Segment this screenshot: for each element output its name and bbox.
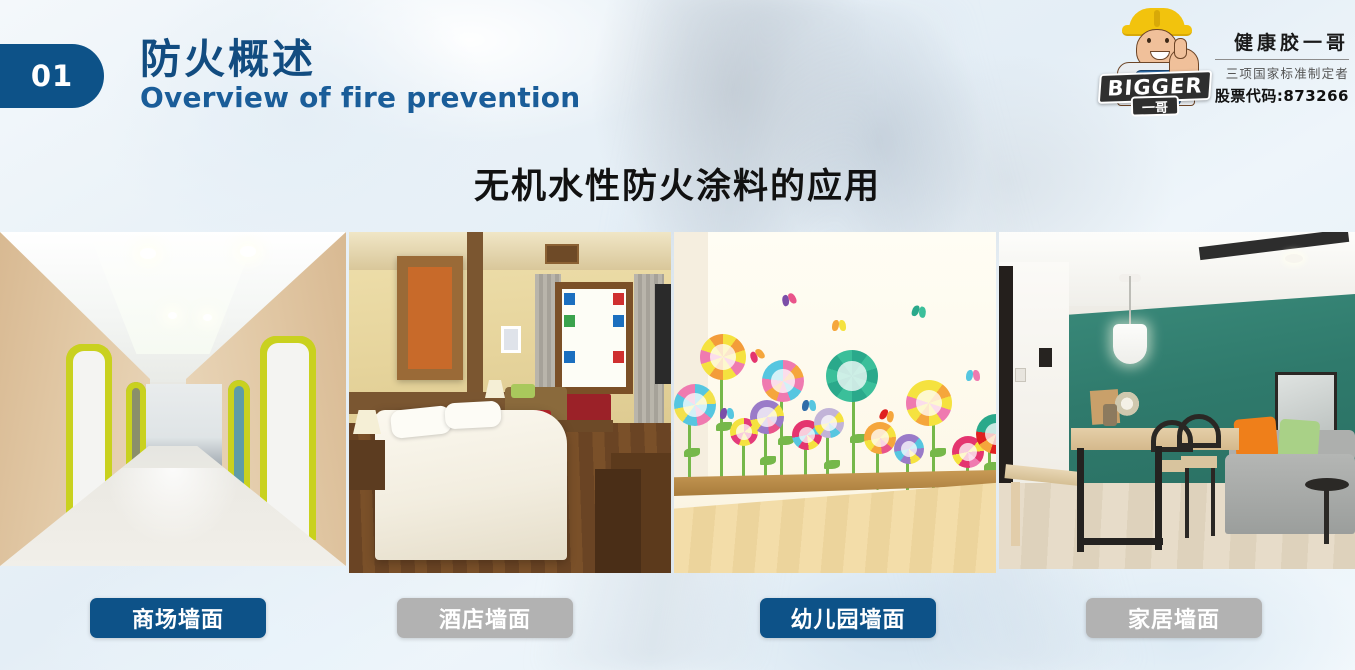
pendant-lamp-cord — [1129, 276, 1131, 326]
dining-chair-leg — [1185, 468, 1189, 538]
gallery-image-hotel-room — [349, 232, 671, 573]
gallery-image-kindergarten-wall — [674, 232, 996, 573]
flower-leaf — [824, 460, 840, 469]
flower-bloom — [906, 380, 952, 426]
section-heading: 防火概述 Overview of fire prevention — [140, 38, 580, 113]
butterfly-icon — [911, 305, 927, 319]
flower-bouquet — [1115, 392, 1145, 418]
brand-name: 健康胶一哥 — [1215, 28, 1349, 55]
section-title-cn: 防火概述 — [140, 38, 580, 81]
kindergarten-wood-floor — [674, 481, 996, 573]
butterfly-icon — [879, 408, 896, 423]
flower-leaf — [930, 448, 946, 457]
flower-leaf — [984, 462, 996, 471]
hotel-ceiling-lamp — [545, 244, 579, 264]
butterfly-icon — [720, 408, 734, 419]
mascot-eye-right — [1165, 38, 1169, 43]
ceiling-light — [140, 248, 156, 259]
flower-bloom-sunflower — [826, 350, 878, 402]
brand-text-block: 健康胶一哥 三项国家标准制定者 股票代码:873266 — [1215, 4, 1349, 106]
dining-chair-seat — [1181, 456, 1217, 468]
page-title: 无机水性防火涂料的应用 — [0, 158, 1355, 209]
mascot-eye-left — [1147, 38, 1151, 43]
flower-bloom — [894, 434, 924, 464]
yige-badge: 一哥 — [1131, 95, 1180, 116]
worker-mascot-icon: BIGGER 一哥 — [1095, 4, 1215, 116]
caption-badge-kindergarten[interactable]: 幼儿园墙面 — [760, 598, 936, 638]
hotel-pillow — [444, 401, 501, 430]
flower-leaf — [684, 448, 700, 457]
hotel-ceiling-beam — [467, 232, 483, 402]
butterfly-icon — [748, 347, 766, 364]
hotel-desk-chair — [595, 469, 641, 573]
hotel-wall-art — [397, 256, 463, 380]
ceiling-light — [168, 312, 177, 319]
butterfly-icon — [802, 400, 816, 411]
flower-bloom — [814, 408, 844, 438]
butterfly-icon — [832, 320, 846, 331]
butterfly-icon — [781, 292, 798, 307]
gray-sofa — [1225, 454, 1355, 534]
brand-divider — [1215, 59, 1349, 60]
section-number-badge: 01 — [0, 44, 104, 108]
brand-logo: BIGGER 一哥 健康胶一哥 三项国家标准制定者 股票代码:873266 — [1095, 4, 1349, 116]
wood-bench-leg — [1011, 482, 1020, 546]
section-title-en: Overview of fire prevention — [140, 83, 580, 114]
flower-bloom — [750, 400, 784, 434]
butterfly-icon — [966, 370, 980, 381]
hotel-stained-glass-window — [555, 282, 633, 394]
side-table-leg — [1324, 488, 1329, 544]
section-number-label: 01 — [31, 59, 73, 93]
table-rail — [1077, 538, 1163, 545]
yige-badge-text: 一哥 — [1142, 96, 1169, 116]
gallery-image-home-interior — [999, 232, 1355, 569]
pendant-lamp — [1113, 324, 1147, 364]
flower-bloom — [700, 334, 746, 380]
flower-bloom — [762, 360, 804, 402]
hotel-green-cushion — [511, 384, 535, 398]
flower-bloom — [674, 384, 716, 426]
table-leg — [1077, 448, 1084, 552]
caption-badge-mall[interactable]: 商场墙面 — [90, 598, 266, 638]
ceiling-spotlight — [1285, 254, 1303, 263]
brand-stock-code: 股票代码:873266 — [1215, 85, 1349, 106]
brand-slogan: 三项国家标准制定者 — [1215, 63, 1349, 82]
dining-chair-leg — [1211, 468, 1215, 536]
slide-canvas: 01 防火概述 Overview of fire prevention BIGG… — [0, 0, 1355, 670]
caption-badge-home[interactable]: 家居墙面 — [1086, 598, 1262, 638]
wall-switch-panel — [1015, 368, 1026, 382]
wall-switch-panel — [1039, 348, 1052, 367]
hotel-tv — [655, 284, 671, 384]
gallery-strip — [0, 232, 1355, 574]
caption-badge-hotel[interactable]: 酒店墙面 — [397, 598, 573, 638]
gallery-image-mall-corridor — [0, 232, 346, 566]
ceiling-light — [240, 246, 256, 257]
ceiling-light — [203, 314, 212, 321]
hotel-picture-frame — [501, 326, 521, 353]
flower-bloom — [864, 422, 896, 454]
flower-leaf — [760, 456, 776, 465]
vase — [1103, 404, 1117, 426]
hotel-nightstand — [349, 440, 385, 490]
table-leg — [1155, 446, 1162, 550]
gallery-captions: 商场墙面 酒店墙面 幼儿园墙面 家居墙面 — [0, 598, 1355, 642]
